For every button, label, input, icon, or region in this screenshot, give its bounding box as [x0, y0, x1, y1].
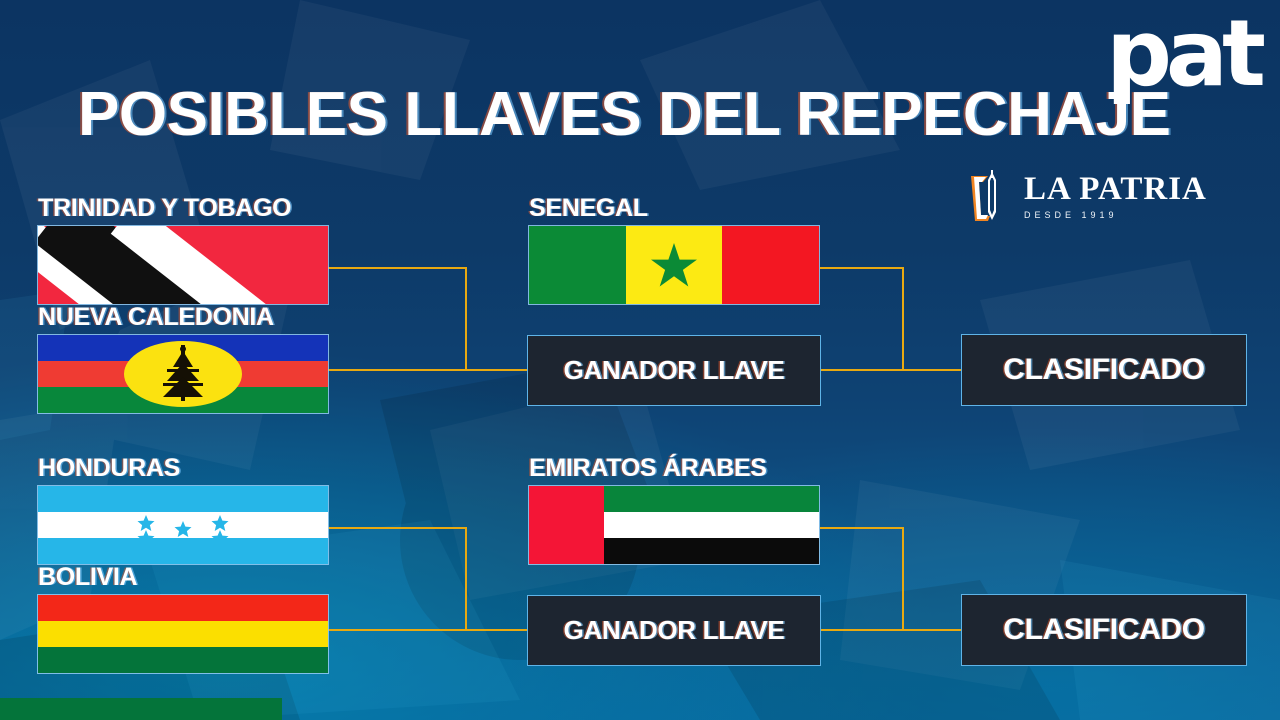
team-trinidad-y-tobago[interactable]: TRINIDAD Y TOBAGO: [38, 196, 328, 304]
match-winner-label: GANADOR LLAVE: [564, 355, 785, 386]
team-label: SENEGAL: [529, 196, 819, 221]
senegal-star-icon: [650, 242, 698, 288]
team-label: TRINIDAD Y TOBAGO: [38, 196, 328, 221]
team-label: BOLIVIA: [38, 565, 328, 590]
team-label: EMIRATOS ÁRABES: [529, 456, 819, 481]
team-nueva-caledonia[interactable]: NUEVA CALEDONIA: [38, 305, 328, 413]
senegal-flag: [529, 226, 819, 304]
team-honduras[interactable]: HONDURAS: [38, 456, 328, 564]
qualified-label: CLASIFICADO: [1003, 613, 1205, 647]
team-bolivia[interactable]: BOLIVIA: [38, 565, 328, 673]
qualified-label: CLASIFICADO: [1003, 353, 1205, 387]
match-winner-box-bottom[interactable]: GANADOR LLAVE: [528, 596, 820, 665]
team-label: NUEVA CALEDONIA: [38, 305, 328, 330]
pat-channel-logo: pat: [1106, 8, 1260, 100]
honduras-stars-icon: [38, 512, 328, 538]
match-winner-label: GANADOR LLAVE: [564, 615, 785, 646]
qualified-box-bottom[interactable]: CLASIFICADO: [962, 595, 1246, 665]
page-title: POSIBLES LLAVES DEL REPECHAJE: [78, 84, 1171, 146]
team-label: HONDURAS: [38, 456, 328, 481]
qualified-box-top[interactable]: CLASIFICADO: [962, 335, 1246, 405]
trinidad-and-tobago-flag: [38, 226, 328, 304]
united-arab-emirates-flag: [529, 486, 819, 564]
team-senegal[interactable]: SENEGAL: [529, 196, 819, 304]
bottom-green-strip: [0, 698, 282, 720]
bolivia-flag: [38, 595, 328, 673]
quill-pen-icon: [968, 168, 1016, 224]
new-caledonia-flag: [38, 335, 328, 413]
la-patria-tagline: DESDE 1919: [1024, 210, 1207, 220]
team-emiratos-arabes[interactable]: EMIRATOS ÁRABES: [529, 456, 819, 564]
la-patria-logo: LA PATRIA DESDE 1919: [968, 168, 1207, 224]
fleche-faitiere-icon: [155, 343, 211, 405]
la-patria-name: LA PATRIA: [1024, 173, 1207, 206]
match-winner-box-top[interactable]: GANADOR LLAVE: [528, 336, 820, 405]
honduras-flag: [38, 486, 328, 564]
